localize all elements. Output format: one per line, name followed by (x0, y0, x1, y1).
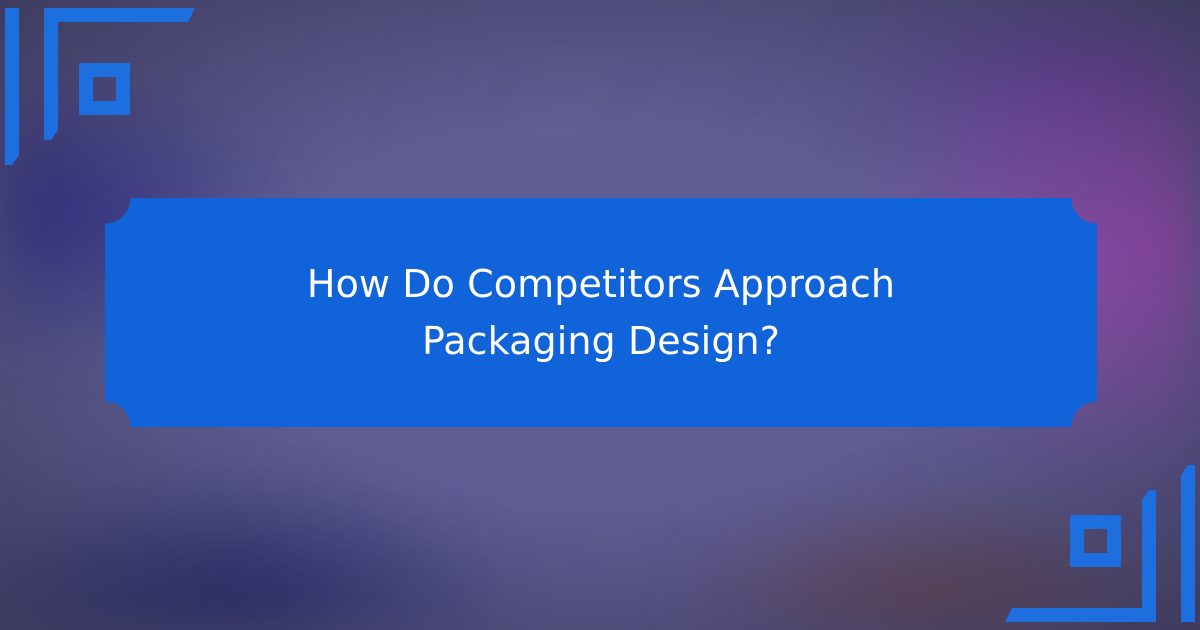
title-card: How Do Competitors Approach Packaging De… (105, 198, 1097, 427)
page-title: How Do Competitors Approach Packaging De… (197, 256, 1005, 368)
share-card-canvas: How Do Competitors Approach Packaging De… (0, 0, 1200, 630)
